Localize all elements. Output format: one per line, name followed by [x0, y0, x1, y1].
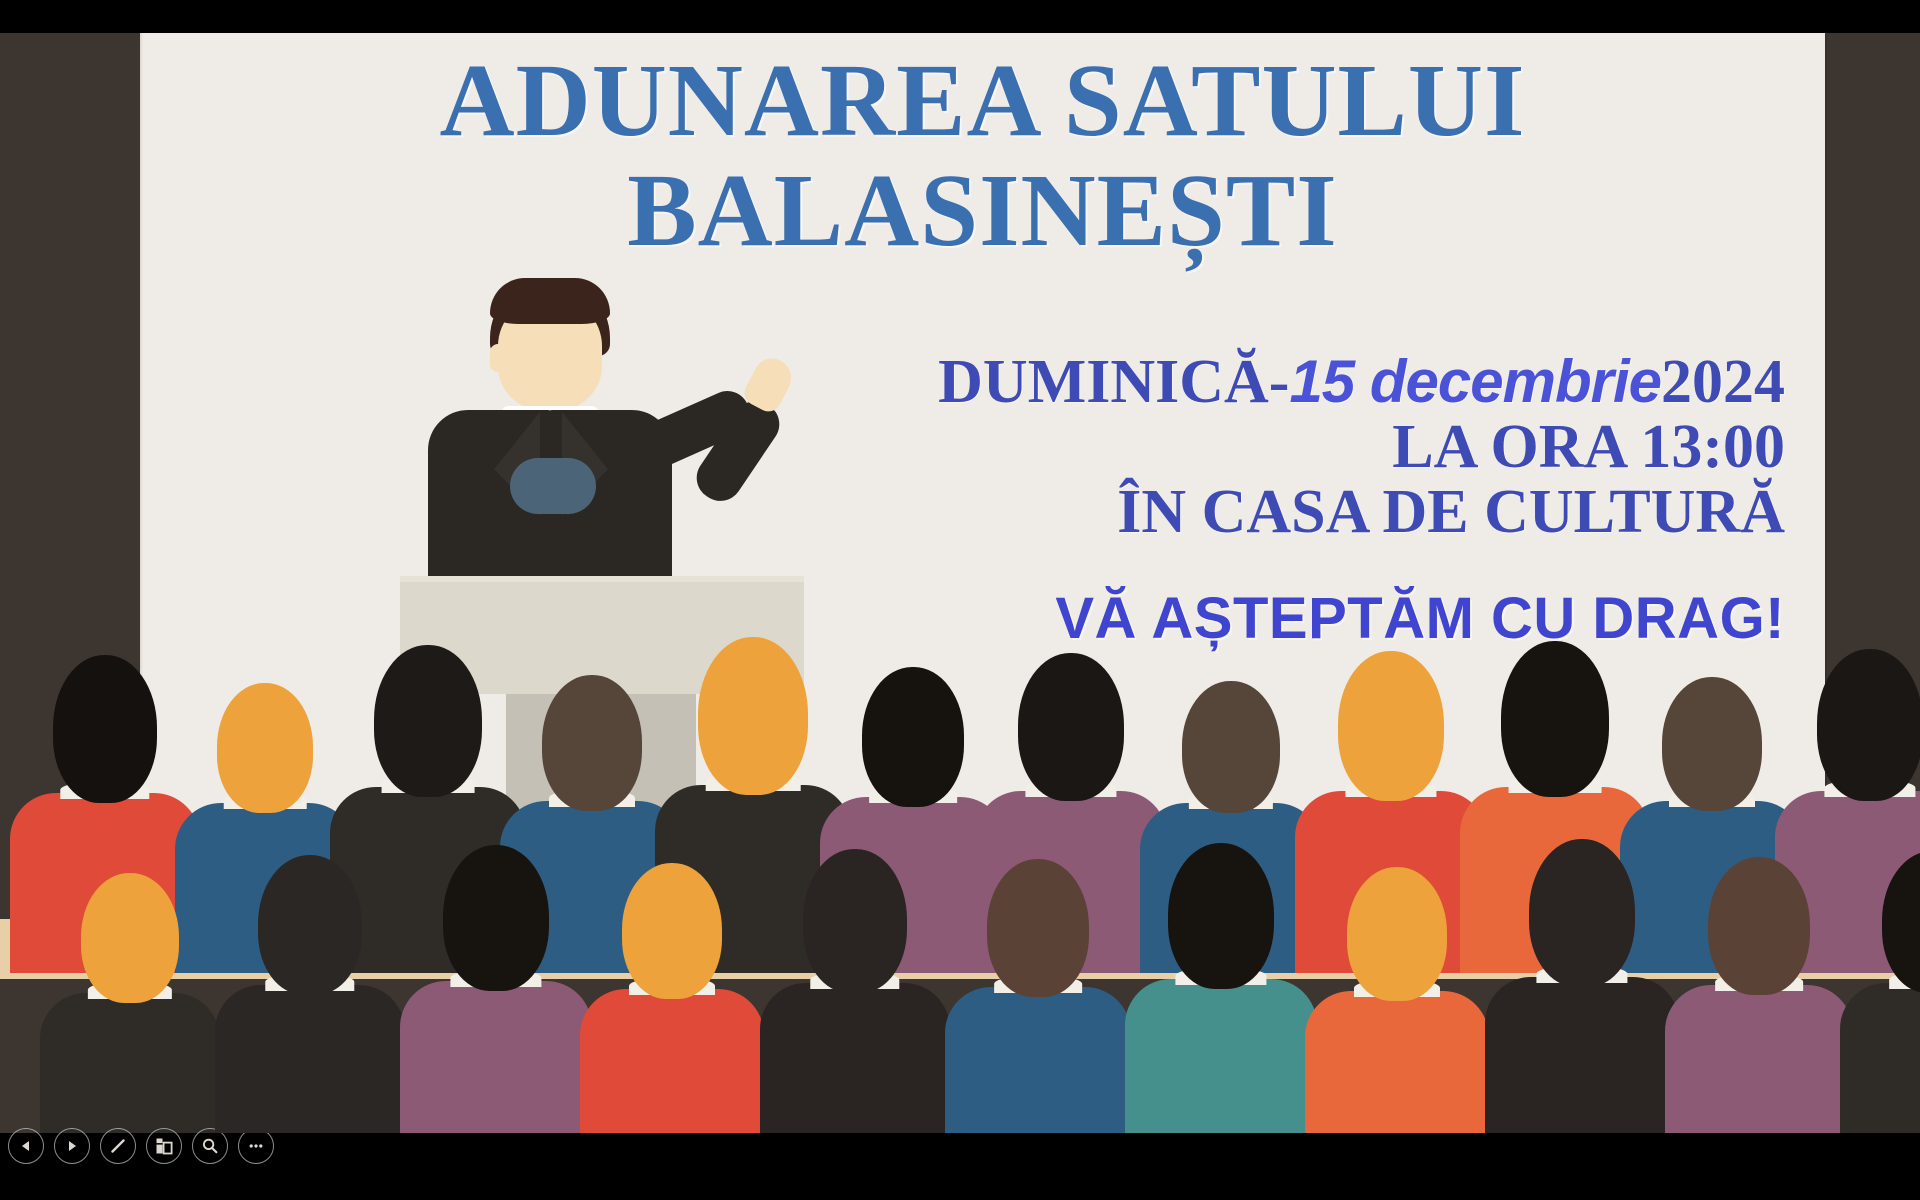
audience-person-head: [1501, 641, 1609, 797]
toolbar-layout-button[interactable]: [146, 1128, 182, 1164]
poster-title-line-2: BALASINEȘTI: [140, 161, 1825, 261]
audience-person-head: [1338, 651, 1444, 801]
audience-person-head: [1347, 867, 1447, 1001]
audience-person-head: [1168, 843, 1274, 989]
year: 2024: [1661, 348, 1785, 416]
toolbar-pen-button[interactable]: [100, 1128, 136, 1164]
magnifier-icon: [201, 1137, 219, 1155]
audience-person: [1665, 847, 1853, 1133]
audience-person-body: [400, 981, 592, 1133]
audience-person: [1305, 857, 1489, 1133]
audience-person-head: [374, 645, 482, 797]
audience-person-body: [580, 989, 764, 1133]
poster-slide: ADUNAREA SATULUI BALASINEȘTI DUMINICĂ-15…: [0, 33, 1920, 1133]
ellipsis-icon: [247, 1137, 265, 1155]
audience-person-head: [81, 873, 179, 1003]
audience-person-head: [542, 675, 642, 811]
date-highlight: 15 decembrie: [1289, 348, 1661, 415]
presentation-toolbar[interactable]: [8, 1128, 274, 1164]
audience-person-head: [698, 637, 808, 795]
audience-person-head: [1817, 649, 1920, 801]
day-prefix: DUMINICĂ-: [938, 348, 1289, 416]
audience-person-head: [258, 855, 362, 995]
poster-place-line: ÎN CASA DE CULTURĂ: [725, 481, 1785, 544]
audience-person-head: [217, 683, 313, 813]
audience-person: [1125, 833, 1317, 1133]
audience-person-body: [1485, 977, 1679, 1133]
toolbar-previous-button[interactable]: [8, 1128, 44, 1164]
audience-person-body: [1665, 985, 1853, 1133]
audience-person-head: [1708, 857, 1810, 995]
audience-person-head: [862, 667, 964, 807]
poster-info-block: DUMINICĂ-15 decembrie2024 LA ORA 13:00 Î…: [725, 351, 1785, 545]
poster-date-line: DUMINICĂ-15 decembrie2024: [725, 351, 1785, 414]
poster-time-line: LA ORA 13:00: [725, 416, 1785, 479]
microphone-head-icon: [510, 458, 596, 514]
audience-person-head: [803, 849, 907, 993]
audience-person-body: [40, 993, 220, 1133]
grid-layout-icon: [155, 1137, 173, 1155]
audience-person-head: [987, 859, 1089, 997]
audience-person-body: [760, 983, 950, 1133]
audience-crowd: [0, 673, 1920, 1133]
audience-person: [760, 839, 950, 1133]
audience-person-body: [1840, 983, 1920, 1133]
letterbox-top: [0, 0, 1920, 33]
pen-icon: [109, 1137, 127, 1155]
audience-person: [945, 849, 1131, 1133]
audience-person: [215, 845, 405, 1133]
audience-person: [1485, 829, 1679, 1133]
audience-person-body: [1125, 979, 1317, 1133]
triangle-right-icon: [65, 1139, 79, 1153]
audience-person-body: [1305, 991, 1489, 1133]
speaker-fringe: [490, 278, 610, 324]
audience-person-body: [945, 987, 1131, 1133]
audience-person-head: [1018, 653, 1124, 801]
audience-person: [580, 853, 764, 1133]
slideshow-viewport: ADUNAREA SATULUI BALASINEȘTI DUMINICĂ-15…: [0, 0, 1920, 1200]
audience-person-head: [1882, 851, 1920, 993]
audience-person-body: [215, 985, 405, 1133]
audience-person: [400, 835, 592, 1133]
audience-person-head: [1662, 677, 1762, 811]
audience-person-head: [622, 863, 722, 999]
toolbar-more-button[interactable]: [238, 1128, 274, 1164]
audience-person: [1840, 841, 1920, 1133]
audience-person-head: [1529, 839, 1635, 987]
toolbar-zoom-button[interactable]: [192, 1128, 228, 1164]
letterbox-bottom: [0, 1133, 1920, 1200]
triangle-left-icon: [19, 1139, 33, 1153]
audience-person-head: [53, 655, 157, 803]
audience-person-head: [1182, 681, 1280, 813]
audience-person: [40, 863, 220, 1133]
poster-title-line-1: ADUNAREA SATULUI: [140, 51, 1825, 151]
toolbar-next-button[interactable]: [54, 1128, 90, 1164]
audience-person-head: [443, 845, 549, 991]
